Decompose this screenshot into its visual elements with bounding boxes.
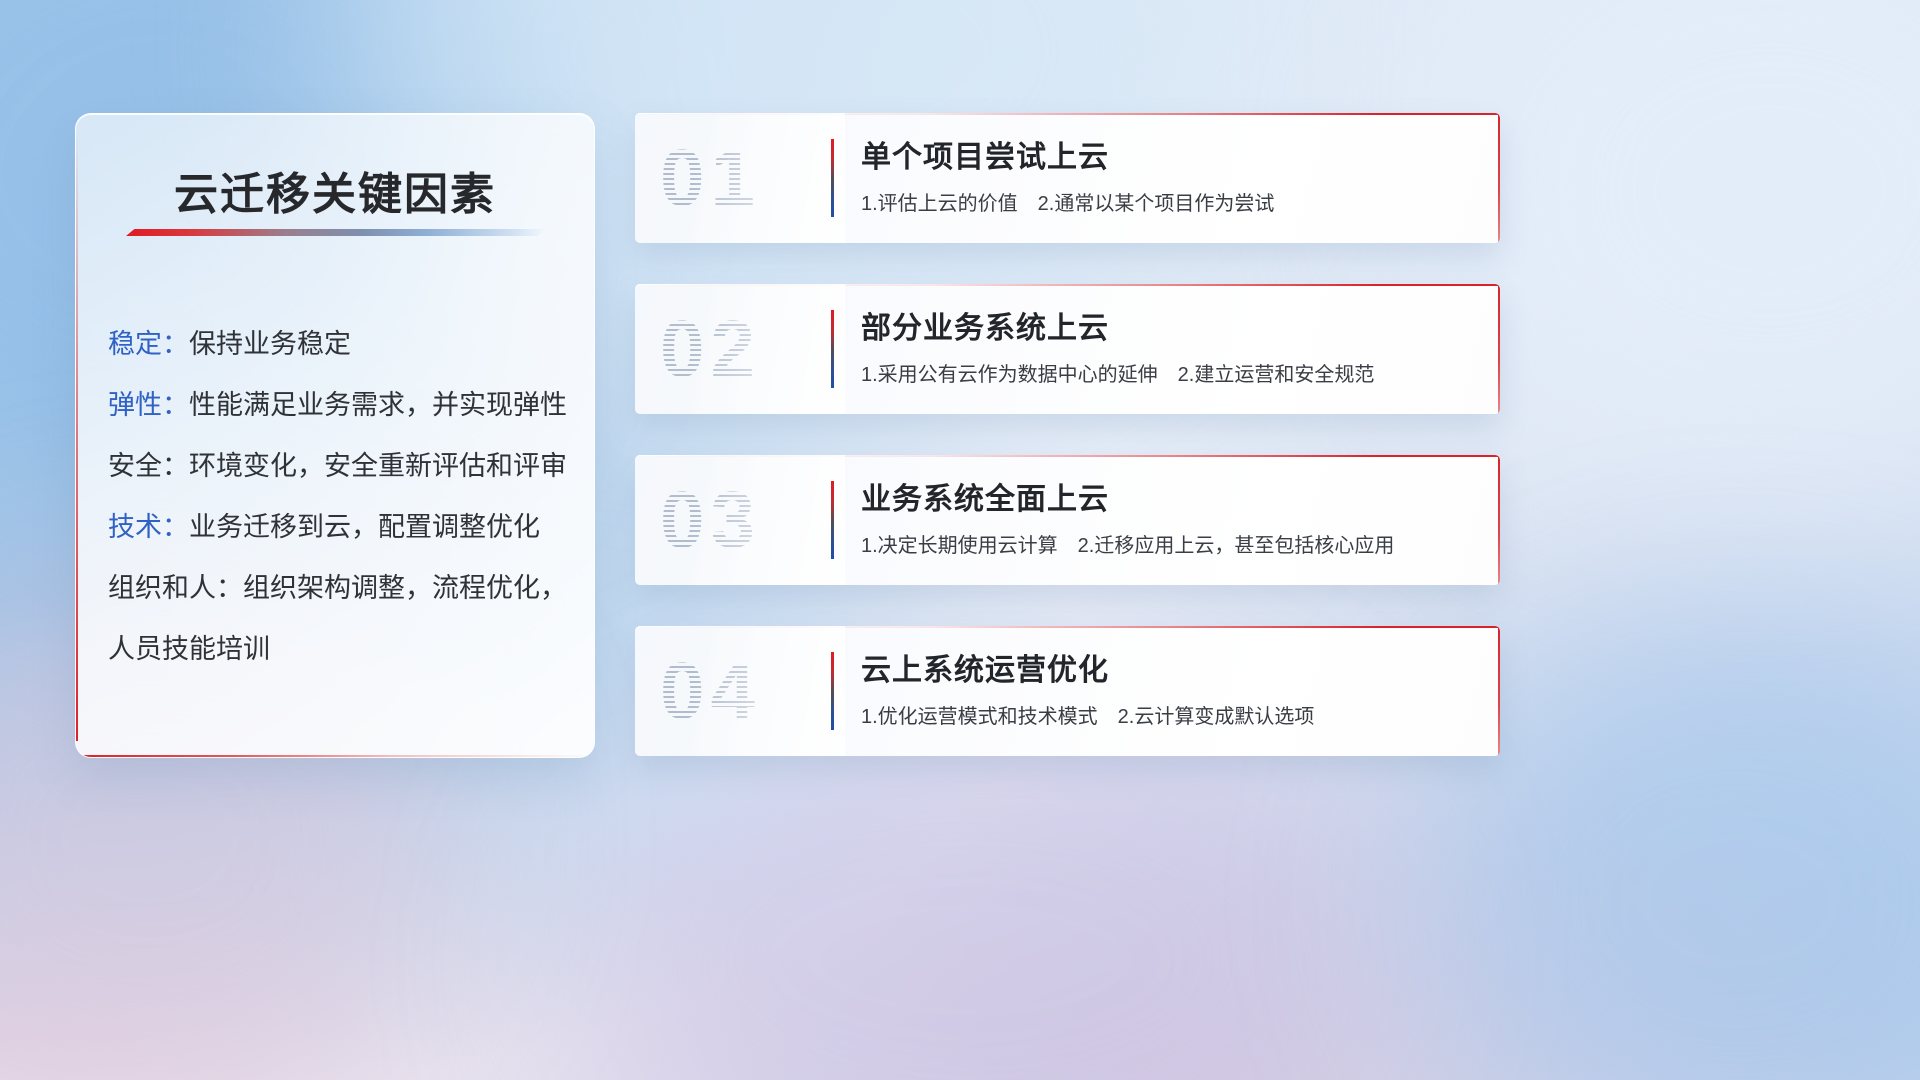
stage-description: 1.采用公有云作为数据中心的延伸 2.建立运营和安全规范 — [861, 361, 1474, 389]
list-item-text: 业务迁移到云，配置调整优化 — [189, 512, 540, 542]
list-item: 安全：环境变化，安全重新评估和评审 — [108, 436, 568, 497]
stage-card-04[interactable]: 04 云上系统运营优化 1.优化运营模式和技术模式 2.云计算变成默认选项 — [635, 626, 1500, 756]
list-item-key: 弹性： — [108, 390, 189, 420]
stage-body: 云上系统运营优化 1.优化运营模式和技术模式 2.云计算变成默认选项 — [861, 651, 1474, 731]
slide-content: 云迁移关键因素 稳定：保持业务稳定 弹性：性能满足业务需求，并实现弹性 安全：环… — [0, 0, 1920, 1080]
title-underline-rule — [126, 229, 546, 236]
list-item: 组织和人：组织架构调整，流程优化，人员技能培训 — [108, 558, 568, 680]
stage-number-container: 02 — [635, 284, 845, 414]
stage-number: 02 — [660, 309, 761, 389]
list-item-key: 组织和人： — [108, 573, 243, 603]
stage-body: 业务系统全面上云 1.决定长期使用云计算 2.迁移应用上云，甚至包括核心应用 — [861, 480, 1474, 560]
stage-number-container: 03 — [635, 455, 845, 585]
accent-bar — [831, 481, 834, 559]
list-item-text: 性能满足业务需求，并实现弹性 — [189, 390, 567, 420]
list-item: 技术：业务迁移到云，配置调整优化 — [108, 497, 568, 558]
stage-number: 01 — [660, 138, 761, 218]
key-factors-list: 稳定：保持业务稳定 弹性：性能满足业务需求，并实现弹性 安全：环境变化，安全重新… — [108, 314, 568, 680]
stage-card-03[interactable]: 03 业务系统全面上云 1.决定长期使用云计算 2.迁移应用上云，甚至包括核心应… — [635, 455, 1500, 585]
stage-description: 1.评估上云的价值 2.通常以某个项目作为尝试 — [861, 190, 1474, 218]
stage-title: 单个项目尝试上云 — [861, 138, 1474, 178]
page-title: 云迁移关键因素 — [174, 158, 496, 222]
stage-title: 部分业务系统上云 — [861, 309, 1474, 349]
accent-bar — [831, 652, 834, 730]
accent-bar — [831, 310, 834, 388]
list-item-text: 保持业务稳定 — [189, 329, 351, 359]
accent-bar — [831, 139, 834, 217]
stage-description: 1.优化运营模式和技术模式 2.云计算变成默认选项 — [861, 703, 1474, 731]
stage-description: 1.决定长期使用云计算 2.迁移应用上云，甚至包括核心应用 — [861, 532, 1474, 560]
key-factors-panel: 云迁移关键因素 稳定：保持业务稳定 弹性：性能满足业务需求，并实现弹性 安全：环… — [75, 113, 595, 758]
stage-title: 业务系统全面上云 — [861, 480, 1474, 520]
list-item-key: 技术： — [108, 512, 189, 542]
stage-title: 云上系统运营优化 — [861, 651, 1474, 691]
stage-card-01[interactable]: 01 单个项目尝试上云 1.评估上云的价值 2.通常以某个项目作为尝试 — [635, 113, 1500, 243]
stage-number: 04 — [660, 651, 761, 731]
list-item-key: 稳定： — [108, 329, 189, 359]
stage-number-container: 01 — [635, 113, 845, 243]
stage-card-02[interactable]: 02 部分业务系统上云 1.采用公有云作为数据中心的延伸 2.建立运营和安全规范 — [635, 284, 1500, 414]
list-item-text: 环境变化，安全重新评估和评审 — [189, 451, 567, 481]
stage-body: 单个项目尝试上云 1.评估上云的价值 2.通常以某个项目作为尝试 — [861, 138, 1474, 218]
stage-number-container: 04 — [635, 626, 845, 756]
list-item: 稳定：保持业务稳定 — [108, 314, 568, 375]
stage-body: 部分业务系统上云 1.采用公有云作为数据中心的延伸 2.建立运营和安全规范 — [861, 309, 1474, 389]
list-item: 弹性：性能满足业务需求，并实现弹性 — [108, 375, 568, 436]
stage-number: 03 — [660, 480, 761, 560]
list-item-key: 安全： — [108, 451, 189, 481]
